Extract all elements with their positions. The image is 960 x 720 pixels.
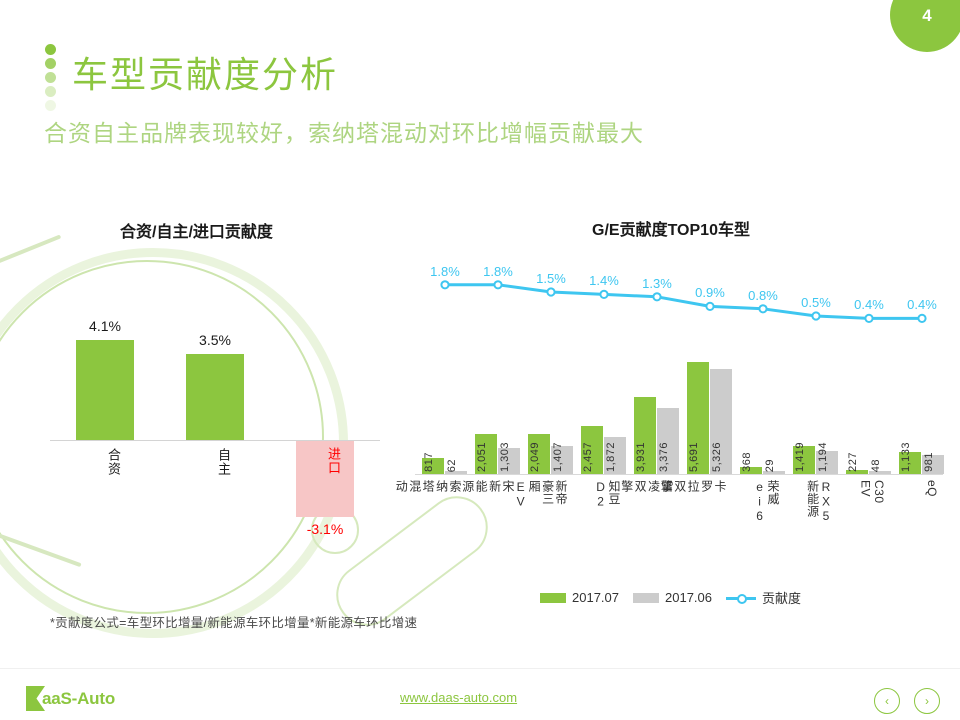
- dot-icon: [45, 44, 56, 55]
- model-category-label: 索纳塔混动: [431, 480, 461, 493]
- origin-bar-value: 4.1%: [50, 318, 160, 334]
- line-point-value: 1.8%: [430, 264, 460, 279]
- legend-swatch-previous: [633, 593, 659, 603]
- logo-text: aaS-Auto: [42, 689, 115, 709]
- legend-label-previous: 2017.06: [665, 590, 712, 605]
- ge-contribution-chart: 81762索纳塔混动2,0511,303宋 新能源2,0491,407新帝豪三厢…: [405, 240, 950, 590]
- origin-bar-value: 3.5%: [160, 332, 270, 348]
- bar-value-previous: 1,303: [499, 442, 511, 472]
- bar-value-current: 3,931: [635, 442, 647, 472]
- bar-value-current: 368: [741, 452, 753, 472]
- bar-value-previous: 1,194: [817, 442, 829, 472]
- model-bars: 5,6915,326: [684, 240, 736, 474]
- slide-navigation: ‹ ›: [874, 688, 940, 714]
- line-point-value: 1.4%: [589, 273, 619, 288]
- footer-divider: [0, 668, 960, 669]
- next-slide-button[interactable]: ›: [914, 688, 940, 714]
- model-bars: 36829: [737, 240, 789, 474]
- dot-icon: [45, 100, 56, 111]
- left-chart-title: 合资/自主/进口贡献度: [120, 218, 273, 242]
- website-link[interactable]: www.daas-auto.com: [400, 690, 517, 705]
- line-point-value: 0.5%: [801, 295, 831, 310]
- dot-icon: [45, 72, 56, 83]
- model-bars: 22748: [843, 240, 895, 474]
- page-subtitle: 合资自主品牌表现较好，索纳塔混动对环比增幅贡献最大: [44, 114, 644, 148]
- bar-value-previous: 5,326: [711, 442, 723, 472]
- model-category-label: 荣威ei6: [749, 480, 779, 524]
- dot-icon: [45, 58, 56, 69]
- bar-value-previous: 1,872: [605, 442, 617, 472]
- origin-bar-group: -3.1%进口: [270, 300, 380, 530]
- origin-category-label: 进口: [310, 447, 340, 475]
- bar-value-current: 5,691: [688, 442, 700, 472]
- origin-category-label: 自主: [200, 448, 230, 476]
- right-chart-baseline: [415, 474, 943, 475]
- model-category-label: C30 EV: [855, 480, 885, 504]
- line-point-value: 0.4%: [854, 297, 884, 312]
- page-number-badge: 4: [890, 0, 960, 52]
- line-point-value: 0.8%: [748, 288, 778, 303]
- footnote: *贡献度公式=车型环比增量/新能源车环比增量*新能源车环比增速: [50, 612, 417, 631]
- model-bar-group: 1,4191,194RX5 新能源: [790, 240, 842, 474]
- bar-value-current: 2,051: [476, 442, 488, 472]
- bar-value-previous: 3,376: [658, 442, 670, 472]
- bar-value-current: 2,457: [582, 442, 594, 472]
- bar-value-current: 2,049: [529, 442, 541, 472]
- daas-auto-logo: aaS-Auto: [26, 686, 115, 711]
- origin-category-label: 合资: [90, 448, 120, 476]
- model-category-label: RX5 新能源: [802, 480, 832, 524]
- legend-item-line[interactable]: 贡献度: [726, 588, 801, 607]
- bar-value-previous: 29: [764, 459, 776, 472]
- origin-bar-group: 4.1%合资: [50, 300, 160, 530]
- page-title: 车型贡献度分析: [72, 46, 338, 98]
- model-bars: 1,4191,194: [790, 240, 842, 474]
- dot-icon: [45, 86, 56, 97]
- bar-value-current: 1,133: [900, 442, 912, 472]
- origin-bar-positive[interactable]: [186, 354, 244, 440]
- legend-item-previous[interactable]: 2017.06: [633, 590, 712, 605]
- decorative-line-top: [0, 234, 61, 286]
- line-point-value: 1.3%: [642, 276, 672, 291]
- model-category-label: eQ: [908, 480, 938, 497]
- legend-label-line: 贡献度: [762, 588, 801, 607]
- origin-bar-group: 3.5%自主: [160, 300, 270, 530]
- model-category-label: 新帝豪三厢EV: [537, 480, 567, 509]
- legend-label-current: 2017.07: [572, 590, 619, 605]
- model-category-label: 卡罗拉双擎: [696, 480, 726, 493]
- bar-value-previous: 1,407: [552, 442, 564, 472]
- prev-slide-button[interactable]: ‹: [874, 688, 900, 714]
- right-chart-title: G/E贡献度TOP10车型: [592, 216, 750, 240]
- bar-value-previous: 48: [870, 459, 882, 472]
- model-bar-group: 36829荣威ei6: [737, 240, 789, 474]
- line-point-value: 0.9%: [695, 285, 725, 300]
- line-point-value: 1.5%: [536, 271, 566, 286]
- title-dots-decoration: [45, 44, 56, 111]
- line-point-value: 0.4%: [907, 297, 937, 312]
- model-bar-group: 22748C30 EV: [843, 240, 895, 474]
- bar-value-current: 817: [423, 452, 435, 472]
- contribution-by-origin-chart: 4.1%合资3.5%自主-3.1%进口: [50, 300, 380, 530]
- legend-swatch-current: [540, 593, 566, 603]
- model-category-label: 知豆D2: [590, 480, 620, 509]
- model-category-label: 宋 新能源: [484, 480, 514, 493]
- legend-swatch-line: [726, 592, 756, 604]
- model-bar-group: 5,6915,326卡罗拉双擎: [684, 240, 736, 474]
- model-bar-group: 1,133981eQ: [896, 240, 948, 474]
- bar-value-current: 1,419: [794, 442, 806, 472]
- bar-value-previous: 981: [923, 452, 935, 472]
- origin-bar-value: -3.1%: [270, 521, 380, 537]
- bar-value-previous: 62: [446, 459, 458, 472]
- slide: 4 车型贡献度分析 合资自主品牌表现较好，索纳塔混动对环比增幅贡献最大 合资/自…: [0, 0, 960, 720]
- origin-bar-positive[interactable]: [76, 340, 134, 440]
- bar-value-current: 227: [847, 452, 859, 472]
- legend-item-current[interactable]: 2017.07: [540, 590, 619, 605]
- chart-legend: 2017.07 2017.06 贡献度: [540, 588, 801, 607]
- model-bars: 1,133981: [896, 240, 948, 474]
- line-point-value: 1.8%: [483, 264, 513, 279]
